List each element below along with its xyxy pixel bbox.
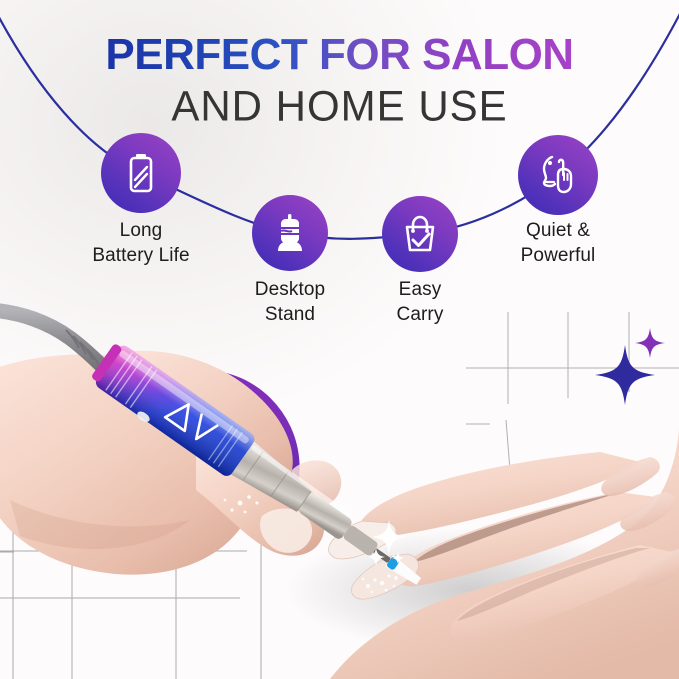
star-small-purple — [635, 328, 665, 358]
desktop-stand-icon — [268, 211, 312, 255]
feature-bubble-quiet — [518, 135, 598, 215]
feature-label-easy-carry: Easy Carry — [354, 277, 486, 327]
product-marketing-image: PERFECT FOR SALON AND HOME USE Long Batt… — [0, 0, 679, 679]
battery-icon — [118, 150, 164, 196]
feature-bubble-desktop-stand — [252, 195, 328, 271]
product-photo-scene — [0, 0, 679, 679]
decorative-stars — [595, 328, 665, 405]
feature-label-battery: Long Battery Life — [71, 218, 211, 268]
shopping-bag-check-icon — [398, 212, 442, 256]
shush-face-icon — [534, 151, 582, 199]
feature-bubble-easy-carry — [382, 196, 458, 272]
feature-label-desktop-stand: Desktop Stand — [222, 277, 358, 327]
feature-label-quiet: Quiet & Powerful — [487, 218, 629, 268]
feature-bubble-battery — [101, 133, 181, 213]
star-large-blue — [595, 345, 655, 405]
